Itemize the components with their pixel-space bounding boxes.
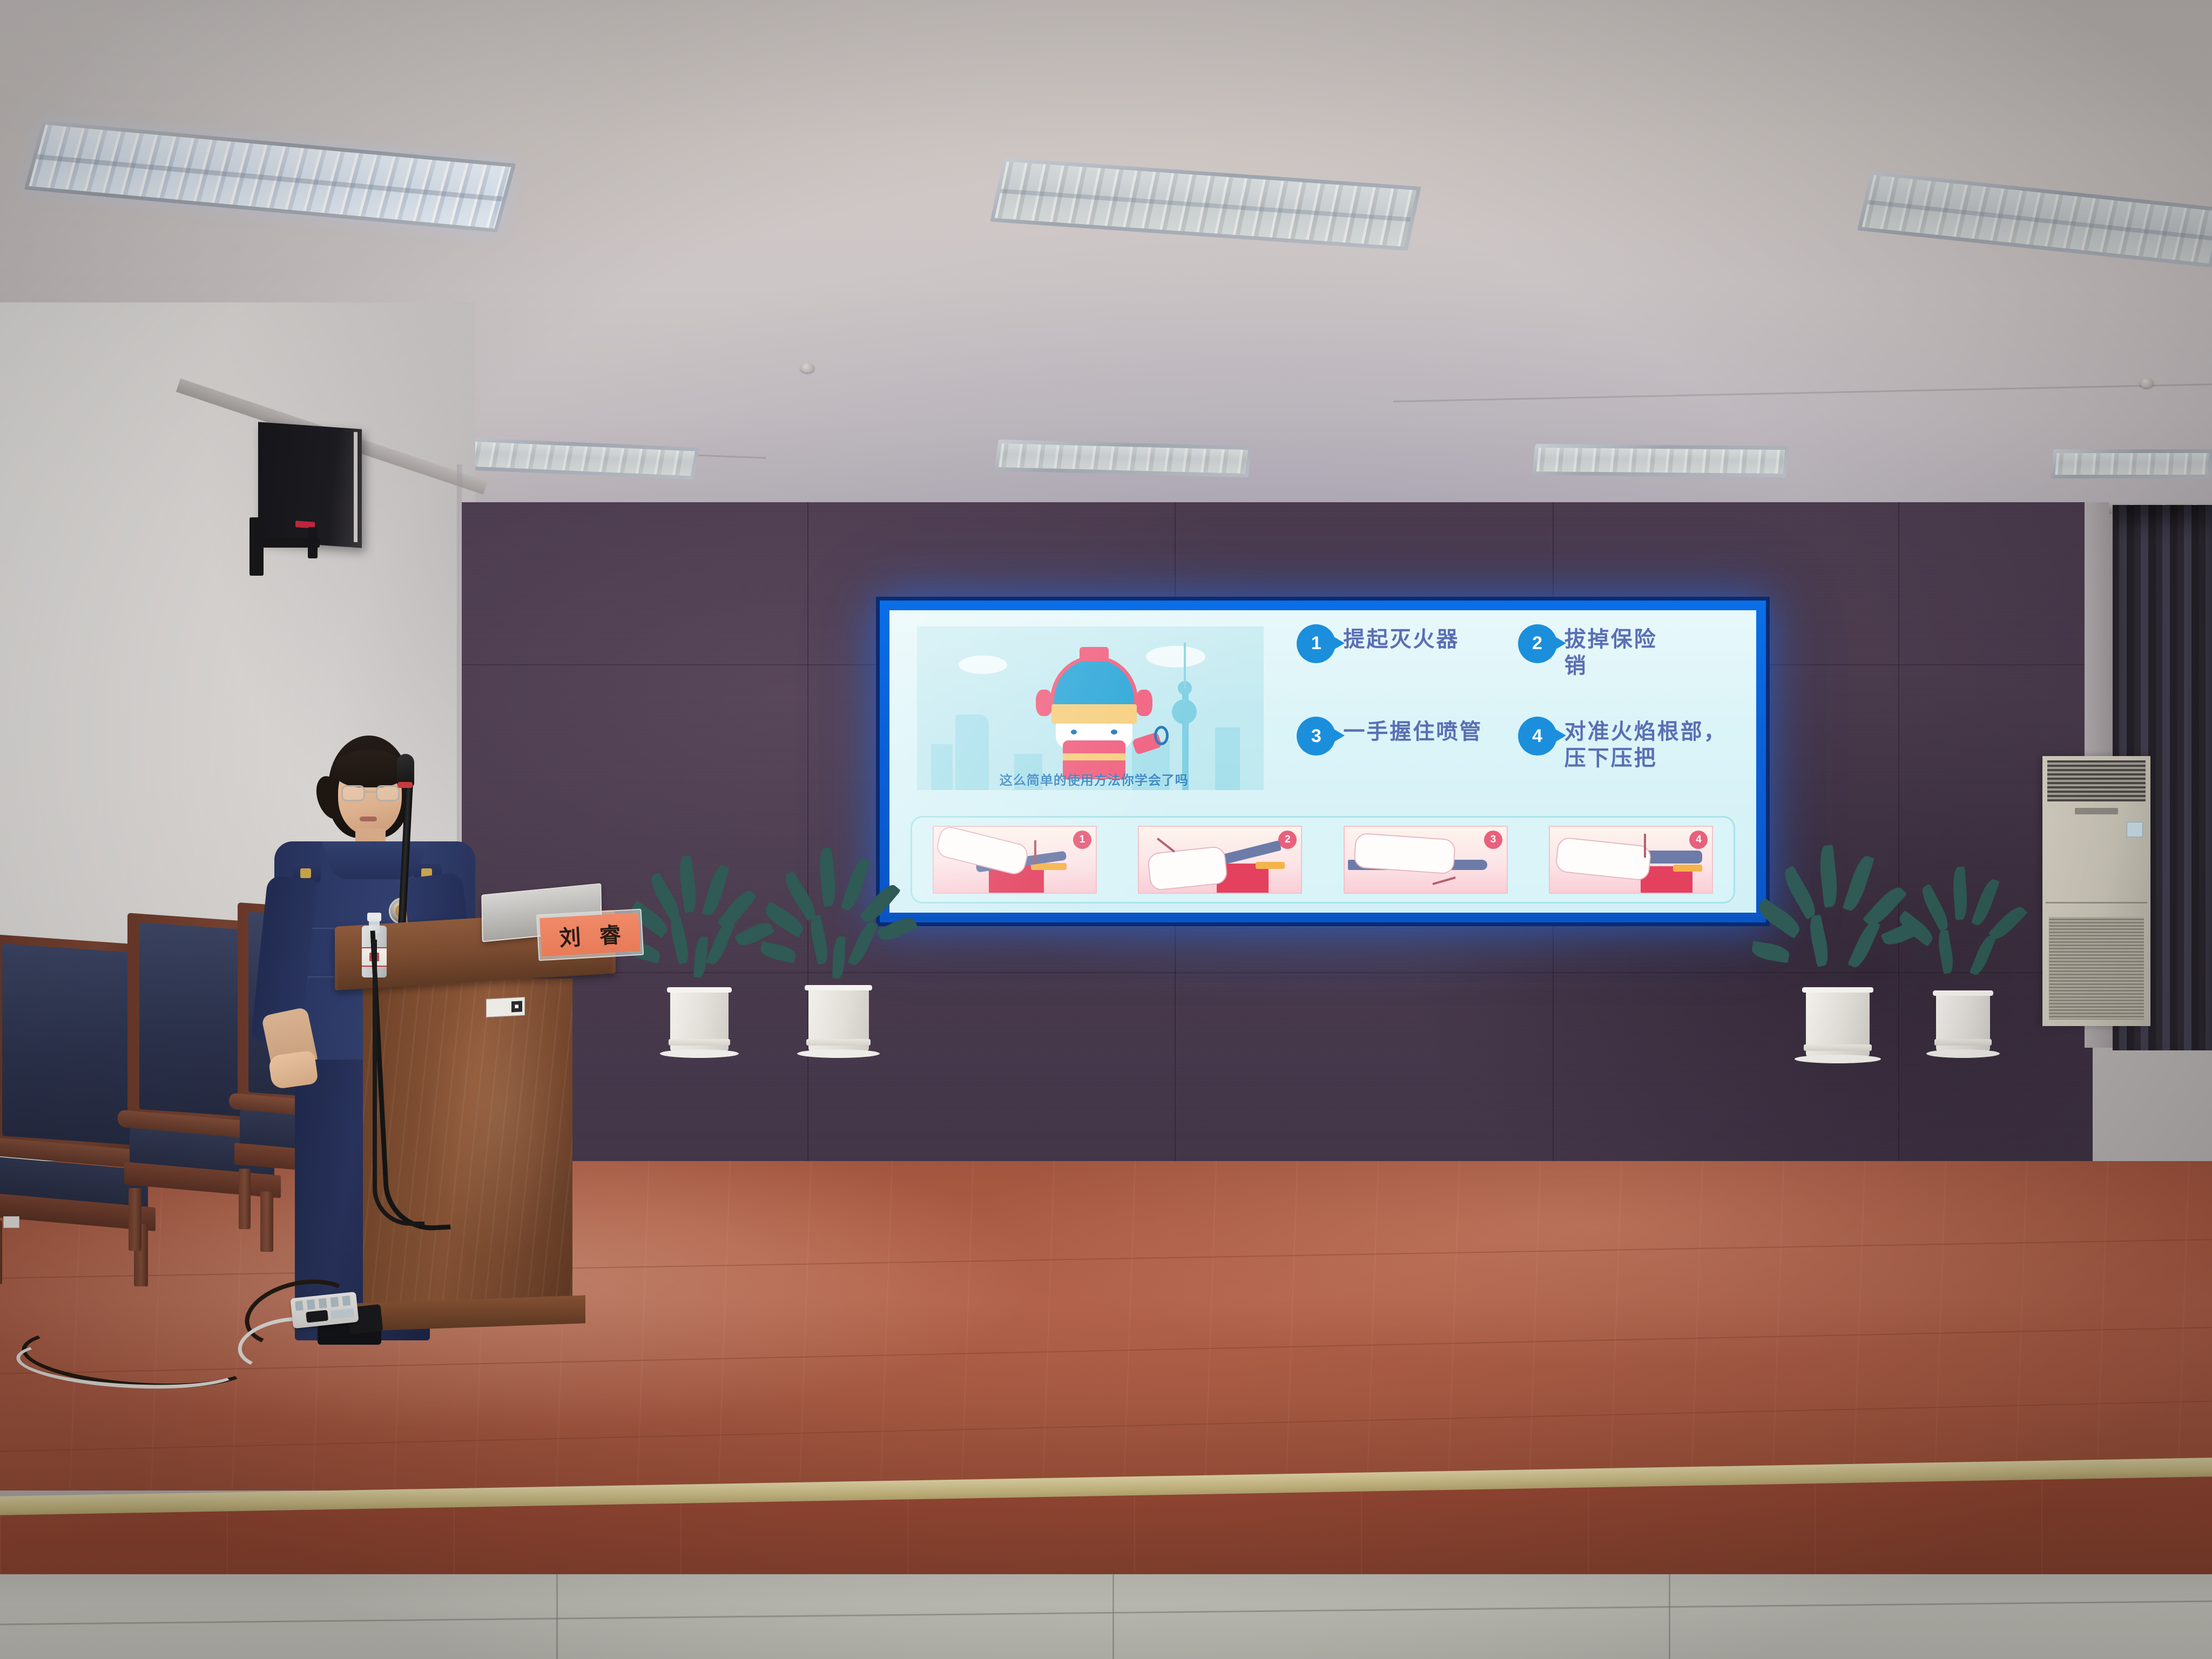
presentation-room-photo: 这么简单的使用方法你学会了吗 1 提起灭火器 2 拔掉保险销 xyxy=(0,0,2212,1659)
pot-saucer xyxy=(1795,1055,1881,1063)
step-number-badge-3: 3 xyxy=(1297,717,1336,756)
pot-rim xyxy=(667,987,732,993)
glasses-lens-right xyxy=(376,785,400,801)
speaker-side-edge xyxy=(354,432,358,542)
pearl-tower-sphere xyxy=(1172,699,1197,724)
plant-foliage xyxy=(1781,845,1894,984)
sprinkler-head xyxy=(800,363,814,373)
mascot-caption-text: 这么简单的使用方法你学会了吗 xyxy=(952,770,1236,788)
power-strip-switch[interactable] xyxy=(306,1310,328,1323)
mascot-uniform-stripe xyxy=(1063,753,1125,760)
nameplate-given-name: 睿 xyxy=(598,917,622,949)
step-text-3: 一手握住喷管 xyxy=(1343,717,1482,745)
light-louvers xyxy=(1536,448,1785,474)
podium-asset-qr-label xyxy=(486,997,525,1017)
pot-band xyxy=(806,1039,871,1046)
light-louvers xyxy=(2055,453,2209,475)
pot-rim xyxy=(1802,987,1873,993)
potted-plant xyxy=(1781,845,1894,1058)
rank-insignia xyxy=(300,868,311,878)
plant-pot xyxy=(1806,989,1870,1058)
plant-foliage xyxy=(1914,864,2012,986)
mascot-illustration: 这么简单的使用方法你学会了吗 xyxy=(917,626,1264,790)
pot-rim xyxy=(805,985,872,990)
cloud-shape xyxy=(1146,646,1205,667)
step-photo-2: 2 xyxy=(1138,826,1302,893)
slide-upper-section: 这么简单的使用方法你学会了吗 1 提起灭火器 2 拔掉保险销 xyxy=(889,610,1756,810)
slide-canvas: 这么简单的使用方法你学会了吗 1 提起灭火器 2 拔掉保险销 xyxy=(889,610,1756,913)
name-plate: 刘 睿 xyxy=(536,909,644,961)
mascot-helmet-ear xyxy=(1136,690,1152,716)
glasses-bridge xyxy=(365,791,376,793)
skyline-building xyxy=(931,744,953,790)
power-strip-label xyxy=(331,1308,354,1319)
step-item-4: 4 对准火焰根部，压下压把 xyxy=(1518,717,1739,772)
photo-badge-4: 4 xyxy=(1689,831,1708,849)
step-text-1: 提起灭火器 xyxy=(1343,624,1459,653)
bracket-stub xyxy=(308,527,318,558)
chair-leg xyxy=(239,1169,251,1229)
direction-arrow xyxy=(1034,840,1036,863)
ac-panel-seam xyxy=(2046,902,2147,903)
photo-badge-1: 1 xyxy=(1073,831,1091,849)
light-diffuser xyxy=(1536,448,1785,474)
step-number-badge-4: 4 xyxy=(1518,717,1557,756)
ac-intake-grill xyxy=(2049,917,2144,1020)
step-photo-4: 4 xyxy=(1549,826,1713,893)
pot-saucer xyxy=(660,1049,739,1058)
chair-asset-tag xyxy=(3,1216,19,1228)
mascot-helmet-crest xyxy=(1080,647,1109,662)
ceiling-light xyxy=(2051,449,2212,478)
photo-badge-3: 3 xyxy=(1484,831,1502,849)
air-conditioner[interactable] xyxy=(2042,756,2150,1026)
mascot-visor xyxy=(1051,704,1137,724)
direction-arrow xyxy=(1157,838,1175,853)
pot-band xyxy=(669,1039,730,1046)
speaker-mount-bracket xyxy=(249,517,320,576)
step-photo-strip: 1 2 xyxy=(911,816,1736,903)
step-item-1: 1 提起灭火器 xyxy=(1297,624,1459,663)
tile-grout-line xyxy=(556,1574,558,1659)
ceiling-light xyxy=(1532,444,1789,477)
step-photo-1: 1 xyxy=(933,826,1097,893)
light-diffuser xyxy=(2055,453,2209,475)
presentation-slide: 这么简单的使用方法你学会了吗 1 提起灭火器 2 拔掉保险销 xyxy=(889,610,1756,913)
plant-pot xyxy=(808,987,869,1053)
mascot-eye xyxy=(1071,730,1077,734)
potted-plant xyxy=(1914,864,2012,1053)
presenter-mouth xyxy=(360,817,377,821)
presenter-left-hand xyxy=(268,1050,319,1089)
qr-code-icon xyxy=(511,1001,522,1012)
step-number-badge-1: 1 xyxy=(1297,624,1336,663)
pot-band xyxy=(1804,1044,1871,1051)
chair-leg xyxy=(129,1188,141,1251)
plant-pot xyxy=(670,989,729,1053)
step-number-badge-2: 2 xyxy=(1518,624,1557,663)
step-list: 1 提起灭火器 2 拔掉保险销 3 一手握住喷管 4 xyxy=(1297,624,1739,796)
hand-illustration xyxy=(1353,833,1455,875)
tile-floor xyxy=(0,1574,2212,1659)
potted-plant xyxy=(786,848,891,1053)
nameplate-card: 刘 睿 xyxy=(539,913,640,956)
mascot-helmet-ear xyxy=(1036,690,1053,716)
pearl-tower-spire xyxy=(1184,643,1186,689)
ac-badge-label xyxy=(2127,822,2143,837)
microphone-indicator-ring xyxy=(397,782,413,788)
photo-badge-2: 2 xyxy=(1278,831,1297,849)
chair-leg xyxy=(0,1220,2,1284)
pot-band xyxy=(1934,1039,1992,1046)
ceiling-light xyxy=(994,440,1252,477)
sprinkler-head xyxy=(2140,378,2154,388)
pot-rim xyxy=(1933,990,1993,996)
direction-arrow xyxy=(1432,876,1455,885)
presenter-fringe xyxy=(335,750,405,787)
presenter-glasses xyxy=(341,785,400,801)
mascot-eye xyxy=(1111,730,1117,734)
step-photo-3: 3 xyxy=(1344,826,1508,893)
hand-illustration xyxy=(1555,837,1652,881)
plant-foliage xyxy=(786,848,891,982)
ac-top-vent xyxy=(2047,760,2146,801)
step-item-3: 3 一手握住喷管 xyxy=(1297,717,1482,756)
plant-pot xyxy=(1936,993,1990,1053)
ac-display-panel xyxy=(2075,808,2118,814)
step-text-2: 拔掉保险销 xyxy=(1564,624,1667,679)
glasses-lens-left xyxy=(341,785,365,801)
direction-arrow xyxy=(1644,834,1646,858)
tile-grout-line xyxy=(1669,1574,1670,1659)
nameplate-surname: 刘 xyxy=(558,920,582,952)
potted-plant xyxy=(648,853,751,1053)
plant-foliage xyxy=(648,853,751,983)
pot-saucer xyxy=(1926,1049,2000,1058)
extinguisher-collar xyxy=(1256,862,1285,869)
hand-illustration xyxy=(1147,845,1229,891)
extinguisher-collar xyxy=(1673,865,1702,872)
microphone-cable-secondary xyxy=(373,940,424,1226)
led-display-screen[interactable]: 这么简单的使用方法你学会了吗 1 提起灭火器 2 拔掉保险销 xyxy=(876,597,1770,926)
tile-grout-line xyxy=(1112,1574,1114,1659)
firefighter-mascot xyxy=(1042,656,1146,777)
cloud-shape xyxy=(959,656,1007,674)
step-text-4: 对准火焰根部，压下压把 xyxy=(1564,717,1739,772)
step-item-2: 2 拔掉保险销 xyxy=(1518,624,1667,679)
pot-saucer xyxy=(797,1049,879,1058)
